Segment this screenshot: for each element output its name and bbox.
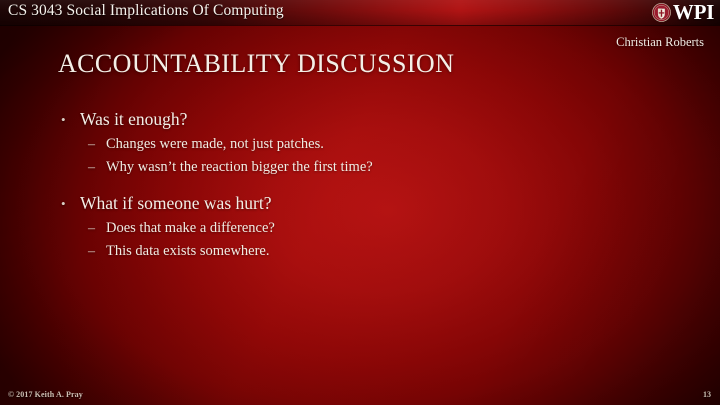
- slide-title: ACCOUNTABILITY DISCUSSION: [58, 48, 454, 80]
- wpi-logo: WPI: [652, 1, 714, 24]
- dash-marker-icon: –: [88, 133, 95, 156]
- bullet-level2: – Why wasn’t the reaction bigger the fir…: [58, 156, 658, 179]
- bullet-level2-text: Does that make a difference?: [106, 220, 275, 236]
- footer-copyright: © 2017 Keith A. Pray: [8, 390, 83, 399]
- bullet-level1-text: What if someone was hurt?: [80, 193, 271, 213]
- bullet-level2: – Does that make a difference?: [58, 217, 658, 240]
- bullet-group: • Was it enough? – Changes were made, no…: [58, 107, 658, 179]
- bullet-level2-text: Changes were made, not just patches.: [106, 136, 324, 152]
- bullet-level2-text: Why wasn’t the reaction bigger the first…: [106, 159, 373, 175]
- wpi-wordmark: WPI: [673, 2, 714, 23]
- dash-marker-icon: –: [88, 217, 95, 240]
- presentation-slide: CS 3043 Social Implications Of Computing…: [0, 0, 720, 405]
- slide-header-bar: CS 3043 Social Implications Of Computing…: [0, 0, 720, 25]
- course-title: CS 3043 Social Implications Of Computing: [8, 2, 284, 20]
- dash-marker-icon: –: [88, 156, 95, 179]
- bullet-group: • What if someone was hurt? – Does that …: [58, 191, 658, 263]
- dash-marker-icon: –: [88, 240, 95, 263]
- slide-body: • Was it enough? – Changes were made, no…: [58, 107, 658, 267]
- bullet-level1: • What if someone was hurt?: [58, 191, 658, 216]
- footer-page-number: 13: [703, 390, 711, 399]
- bullet-level2: – This data exists somewhere.: [58, 240, 658, 263]
- bullet-level2-text: This data exists somewhere.: [106, 243, 270, 259]
- bullet-level2: – Changes were made, not just patches.: [58, 133, 658, 156]
- bullet-marker-icon: •: [61, 191, 66, 216]
- wpi-seal-icon: [652, 3, 671, 22]
- bullet-level1-text: Was it enough?: [80, 109, 187, 129]
- bullet-marker-icon: •: [61, 107, 66, 132]
- bullet-level1: • Was it enough?: [58, 107, 658, 132]
- presenter-name: Christian Roberts: [616, 35, 704, 50]
